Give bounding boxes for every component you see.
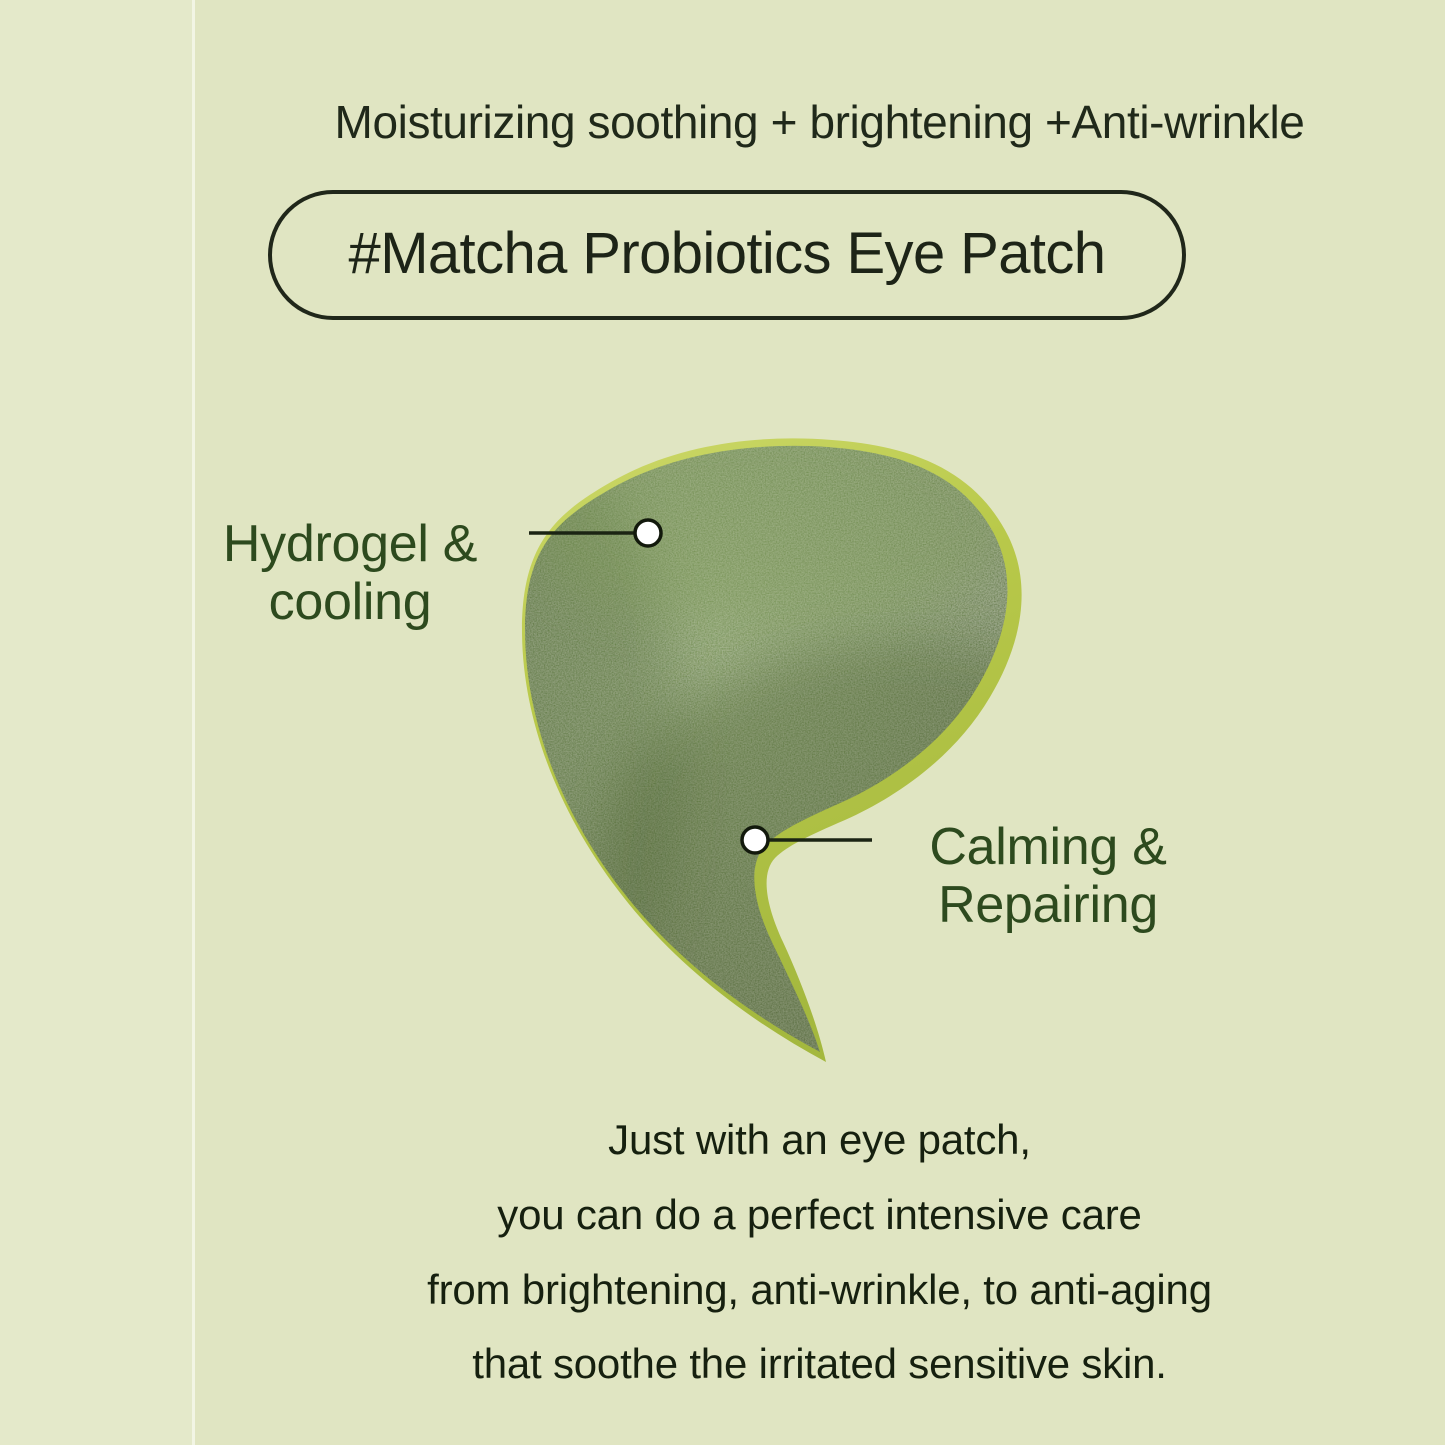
description-line-2: you can do a perfect intensive care — [194, 1178, 1445, 1253]
description-line-3: from brightening, anti-wrinkle, to anti-… — [194, 1253, 1445, 1328]
description-paragraph: Just with an eye patch, you can do a per… — [194, 1103, 1445, 1402]
callout-label-calming-repairing: Calming & Repairing — [858, 818, 1238, 934]
description-line-1: Just with an eye patch, — [194, 1103, 1445, 1178]
product-title-badge: #Matcha Probiotics Eye Patch — [268, 190, 1186, 320]
left-side-band — [0, 0, 194, 1445]
patch-body-group — [400, 410, 1200, 1100]
patch-body — [525, 446, 1008, 1052]
product-title-text: #Matcha Probiotics Eye Patch — [349, 220, 1106, 287]
product-infographic: Moisturizing soothing + brightening +Ant… — [0, 0, 1445, 1445]
patch-top-sheen — [520, 410, 1020, 630]
headline-benefits: Moisturizing soothing + brightening +Ant… — [194, 95, 1445, 149]
white-dot-marker-calming — [742, 827, 768, 853]
patch-rim-highlight — [522, 438, 1022, 1062]
white-dot-marker-hydrogel — [635, 520, 661, 546]
description-line-4: that soothe the irritated sensitive skin… — [194, 1327, 1445, 1402]
callout-label-hydrogel-cooling: Hydrogel & cooling — [150, 515, 550, 631]
